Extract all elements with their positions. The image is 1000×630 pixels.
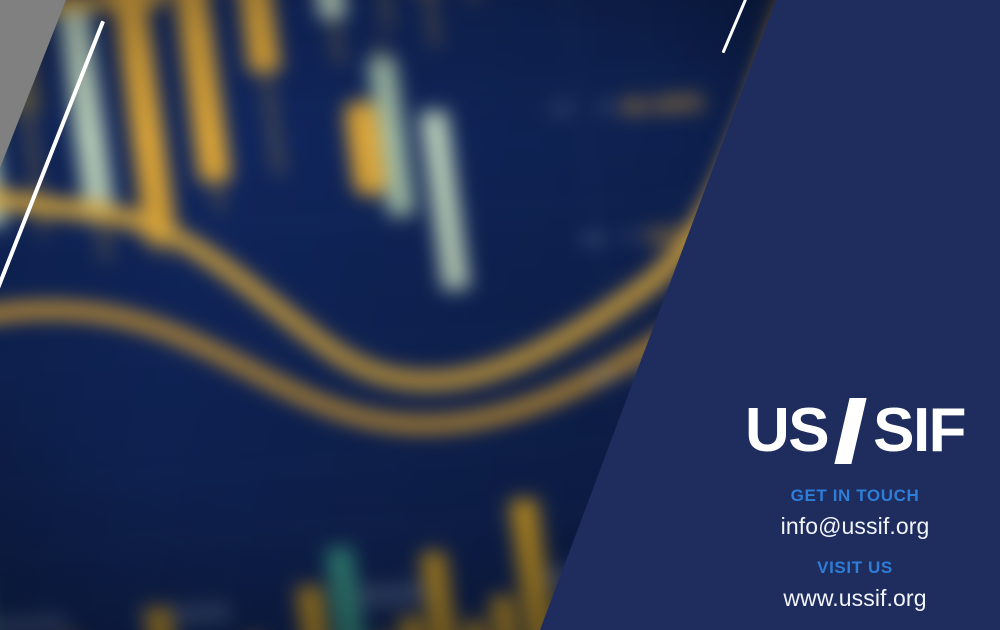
visit-us-label: VISIT US [817, 558, 893, 578]
contact-panel-content: US SIF GET IN TOUCH info@ussif.org VISIT… [710, 0, 1000, 630]
ussif-logo: US SIF [745, 398, 965, 464]
website-url[interactable]: www.ussif.org [783, 585, 926, 612]
logo-slash-icon [834, 398, 866, 464]
get-in-touch-label: GET IN TOUCH [791, 486, 920, 506]
email-address[interactable]: info@ussif.org [781, 513, 930, 540]
logo-text-sif: SIF [873, 400, 965, 462]
poster-canvas: 33.409 49.2683 6412840 32.9117 84 733 1.… [0, 0, 1000, 630]
logo-text-us: US [745, 400, 828, 462]
